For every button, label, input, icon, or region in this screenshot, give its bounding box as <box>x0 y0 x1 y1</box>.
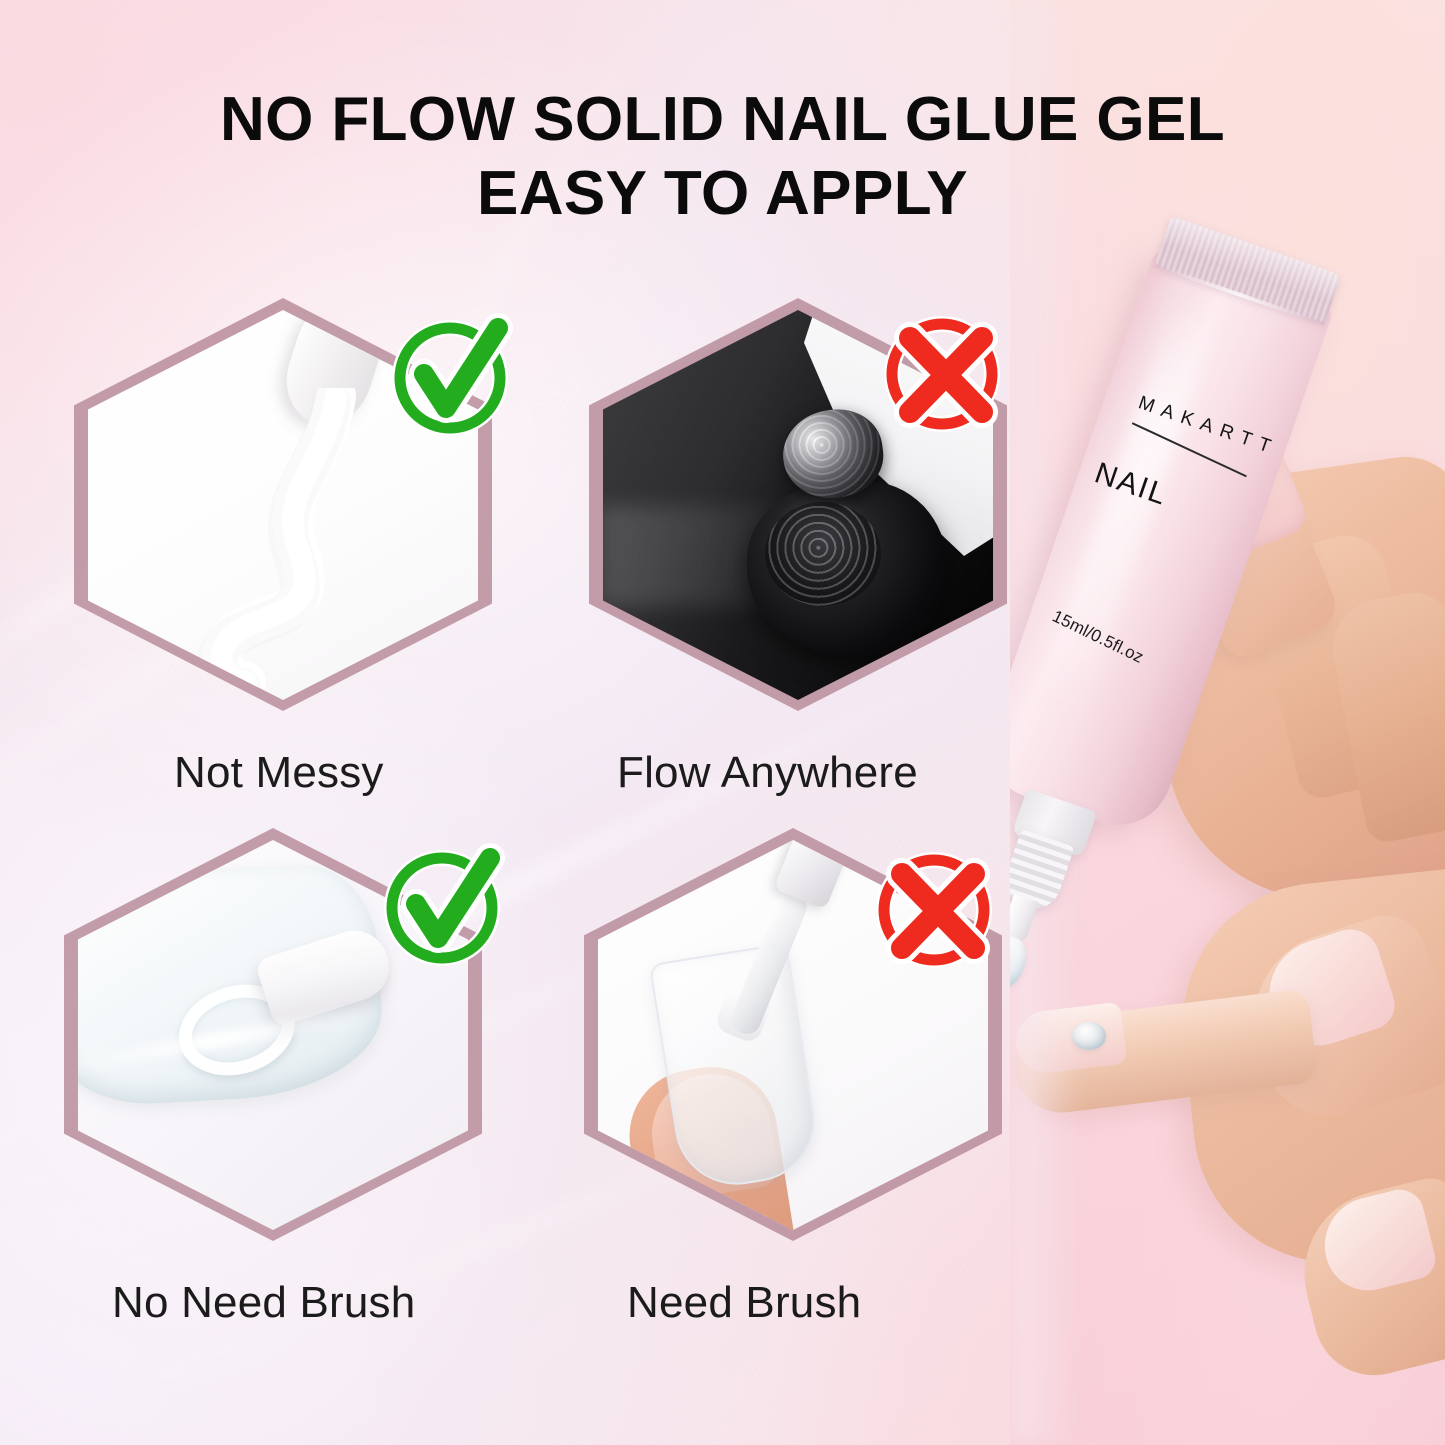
check-icon <box>388 312 518 442</box>
comparison-grid <box>58 292 1068 1372</box>
caption-not-messy: Not Messy <box>174 748 384 798</box>
check-icon <box>380 842 510 972</box>
caption-need-brush: Need Brush <box>627 1278 861 1328</box>
cross-icon <box>878 312 1008 442</box>
spilled-polish-swirl <box>765 502 881 606</box>
headline-block: NO FLOW SOLID NAIL GLUE GEL EASY TO APPL… <box>0 86 1445 228</box>
caption-flow-anywhere: Flow Anywhere <box>617 748 918 798</box>
cross-icon <box>870 848 1000 978</box>
headline-line-2: EASY TO APPLY <box>0 160 1445 228</box>
caption-no-need-brush: No Need Brush <box>112 1278 415 1328</box>
cross-badge-need-brush <box>870 848 1000 978</box>
product-infographic-poster: MAKARTT NAIL 15ml/0.5fl.oz NO FLOW SOLID… <box>0 0 1445 1445</box>
check-badge-not-messy <box>388 312 518 442</box>
check-badge-no-need-brush <box>380 842 510 972</box>
cross-badge-flow-anywhere <box>878 312 1008 442</box>
headline-line-1: NO FLOW SOLID NAIL GLUE GEL <box>0 86 1445 154</box>
